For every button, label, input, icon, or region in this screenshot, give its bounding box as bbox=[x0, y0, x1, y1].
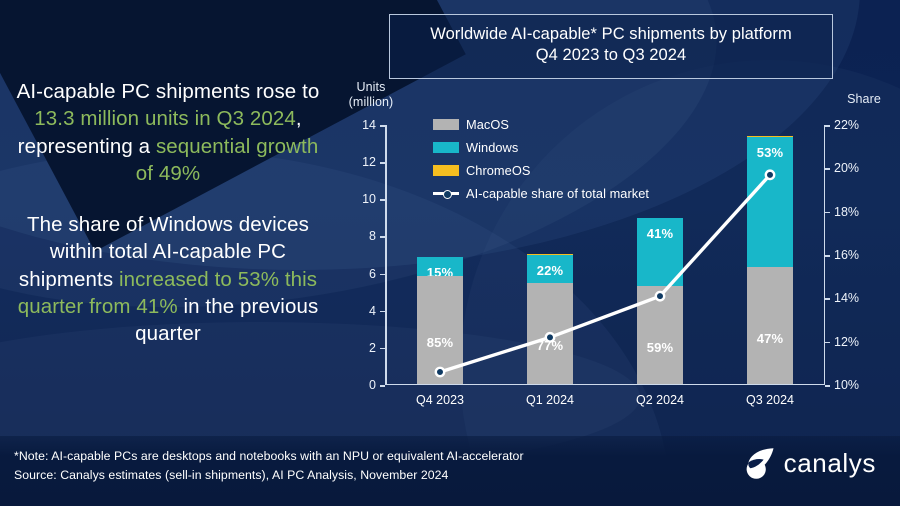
canalys-logo: canalys bbox=[743, 446, 876, 480]
legend-item-label: ChromeOS bbox=[466, 163, 530, 178]
chart-legend: MacOSWindowsChromeOSAI-capable share of … bbox=[433, 114, 649, 206]
canalys-logo-icon bbox=[743, 446, 777, 480]
y-axis-left-tick-label: 12 bbox=[362, 155, 376, 169]
chart-area: Units (million) Share 02468101214 10%12%… bbox=[330, 76, 900, 411]
y-axis-right-caption: Share bbox=[834, 92, 894, 107]
footer-source: Source: Canalys estimates (sell-in shipm… bbox=[14, 466, 524, 484]
commentary-panel: AI-capable PC shipments rose to 13.3 mil… bbox=[8, 78, 328, 347]
footer-note: *Note: AI-capable PCs are desktops and n… bbox=[14, 447, 524, 465]
commentary-p1-seg1: AI-capable PC shipments rose to bbox=[17, 80, 320, 103]
y-axis-left-tick-label: 2 bbox=[369, 341, 376, 355]
y-axis-right-tick-label: 22% bbox=[834, 118, 859, 132]
y-axis-right-tick bbox=[825, 342, 830, 344]
y-axis-right-tick-label: 16% bbox=[834, 248, 859, 262]
commentary-paragraph-1: AI-capable PC shipments rose to 13.3 mil… bbox=[8, 78, 328, 187]
legend-item[interactable]: AI-capable share of total market bbox=[433, 183, 649, 203]
y-axis-left-caption-line2: (million) bbox=[338, 95, 404, 110]
y-axis-left-caption: Units (million) bbox=[338, 80, 404, 110]
canalys-logo-text: canalys bbox=[784, 448, 876, 479]
chart-title-line1: Worldwide AI-capable* PC shipments by pl… bbox=[400, 24, 822, 45]
legend-line-marker-icon bbox=[433, 188, 459, 199]
legend-swatch-icon bbox=[433, 165, 459, 176]
y-axis-right-tick bbox=[825, 255, 830, 257]
legend-item-label: Windows bbox=[466, 140, 518, 155]
legend-swatch-icon bbox=[433, 142, 459, 153]
legend-item[interactable]: Windows bbox=[433, 137, 649, 157]
chart-title-line2: Q4 2023 to Q3 2024 bbox=[400, 45, 822, 66]
y-axis-right-tick-label: 20% bbox=[834, 161, 859, 175]
y-axis-left-tick-label: 10 bbox=[362, 192, 376, 206]
y-axis-right-tick bbox=[825, 298, 830, 300]
x-axis-tick-label: Q4 2023 bbox=[416, 393, 464, 407]
slide-canvas: Worldwide AI-capable* PC shipments by pl… bbox=[0, 0, 900, 506]
y-axis-left-tick-label: 6 bbox=[369, 267, 376, 281]
share-line-marker[interactable] bbox=[546, 333, 554, 341]
y-axis-left-tick-label: 4 bbox=[369, 304, 376, 318]
y-axis-right-tick bbox=[825, 125, 830, 127]
legend-item-label: AI-capable share of total market bbox=[466, 186, 649, 201]
x-axis-tick-label: Q3 2024 bbox=[746, 393, 794, 407]
commentary-p1-highlight2: sequential growth of 49% bbox=[136, 135, 319, 185]
commentary-paragraph-2: The share of Windows devices within tota… bbox=[8, 211, 328, 347]
y-axis-left-caption-line1: Units bbox=[338, 80, 404, 95]
share-line-marker[interactable] bbox=[656, 292, 664, 300]
legend-swatch-icon bbox=[433, 119, 459, 130]
legend-item[interactable]: ChromeOS bbox=[433, 160, 649, 180]
share-line-marker[interactable] bbox=[766, 171, 774, 179]
y-axis-left-tick bbox=[380, 385, 385, 387]
chart-title-box: Worldwide AI-capable* PC shipments by pl… bbox=[389, 14, 833, 79]
x-axis-tick-label: Q1 2024 bbox=[526, 393, 574, 407]
legend-item-label: MacOS bbox=[466, 117, 509, 132]
share-line-marker[interactable] bbox=[436, 368, 444, 376]
y-axis-right-tick-label: 12% bbox=[834, 335, 859, 349]
footer-notes: *Note: AI-capable PCs are desktops and n… bbox=[14, 447, 524, 484]
y-axis-right-tick-label: 14% bbox=[834, 291, 859, 305]
commentary-p1-highlight1: 13.3 million units in Q3 2024 bbox=[34, 107, 296, 130]
y-axis-left-tick-label: 0 bbox=[369, 378, 376, 392]
x-axis-tick-label: Q2 2024 bbox=[636, 393, 684, 407]
y-axis-left-tick-label: 14 bbox=[362, 118, 376, 132]
y-axis-right-tick-label: 18% bbox=[834, 205, 859, 219]
y-axis-right-tick bbox=[825, 385, 830, 387]
y-axis-right-tick-label: 10% bbox=[834, 378, 859, 392]
y-axis-right-tick bbox=[825, 168, 830, 170]
y-axis-right-tick bbox=[825, 212, 830, 214]
y-axis-left-tick-label: 8 bbox=[369, 229, 376, 243]
legend-item[interactable]: MacOS bbox=[433, 114, 649, 134]
